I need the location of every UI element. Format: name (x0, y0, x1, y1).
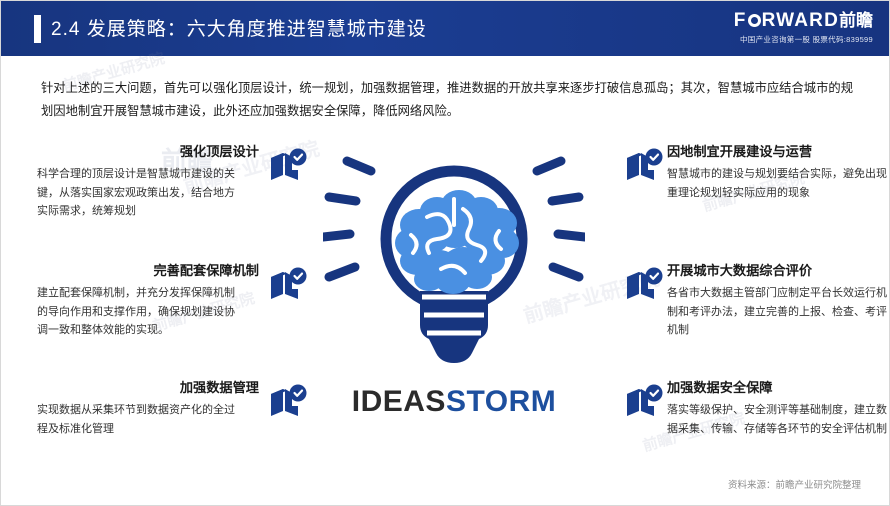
logo-subtitle: 中国产业咨询第一股 股票代码:839599 (734, 34, 873, 45)
strategy-item-left-3: 加强数据管理 实现数据从采集环节到数据资产化的全过程及标准化管理 (37, 379, 305, 438)
brand-label-ideas: IDEAS (352, 385, 446, 418)
strategy-item-right-1: 因地制宜开展建设与运营 智慧城市的建设与规划要结合实际，避免出现重理论规划轻实际… (621, 143, 889, 202)
strategy-item-right-2: 开展城市大数据综合评价 各省市大数据主管部门应制定平台长效运行机制和考评办法，建… (621, 262, 889, 340)
package-check-icon (621, 264, 661, 304)
brand-label: IDEASSTORM (323, 385, 585, 419)
source-note: 资料来源：前瞻产业研究院整理 (728, 477, 861, 491)
intro-paragraph: 针对上述的三大问题，首先可以强化顶层设计，统一规划，加强数据管理，推进数据的开放… (41, 77, 853, 123)
lightbulb-brain-illustration (323, 139, 585, 389)
package-check-icon (265, 264, 305, 304)
ray-group-left (323, 161, 371, 277)
package-check-icon (265, 381, 305, 421)
header-accent-bar (34, 15, 41, 43)
logo-ring-icon (748, 14, 761, 27)
slide-header: 2.4 发展策略：六大角度推进智慧城市建设 FRWARD前瞻 中国产业咨询第一股… (1, 1, 890, 56)
logo-forward-text: F (734, 10, 747, 31)
package-check-icon (265, 145, 305, 185)
slide-page: 2.4 发展策略：六大角度推进智慧城市建设 FRWARD前瞻 中国产业咨询第一股… (0, 0, 890, 506)
brand-label-storm: STORM (446, 385, 556, 418)
logo-wordmark: FRWARD前瞻 (734, 10, 873, 32)
logo-forward-text-2: RWARD (762, 10, 839, 31)
logo-chinese-text: 前瞻 (839, 11, 873, 30)
ray-group-right (537, 161, 585, 277)
bulb-base (420, 291, 488, 363)
strategy-item-left-1: 强化顶层设计 科学合理的顶层设计是智慧城市建设的关键，从落实国家宏观政策出发，结… (37, 143, 305, 221)
brand-logo: FRWARD前瞻 中国产业咨询第一股 股票代码:839599 (734, 10, 873, 45)
page-title: 2.4 发展策略：六大角度推进智慧城市建设 (51, 14, 427, 41)
strategy-item-right-3: 加强数据安全保障 落实等级保护、安全测评等基础制度，建立数据采集、传输、存储等各… (621, 379, 889, 438)
package-check-icon (621, 145, 661, 185)
brain-shape (395, 190, 519, 294)
strategy-item-left-2: 完善配套保障机制 建立配套保障机制，并充分发挥保障机制的导向作用和支撑作用，确保… (37, 262, 305, 340)
package-check-icon (621, 381, 661, 421)
